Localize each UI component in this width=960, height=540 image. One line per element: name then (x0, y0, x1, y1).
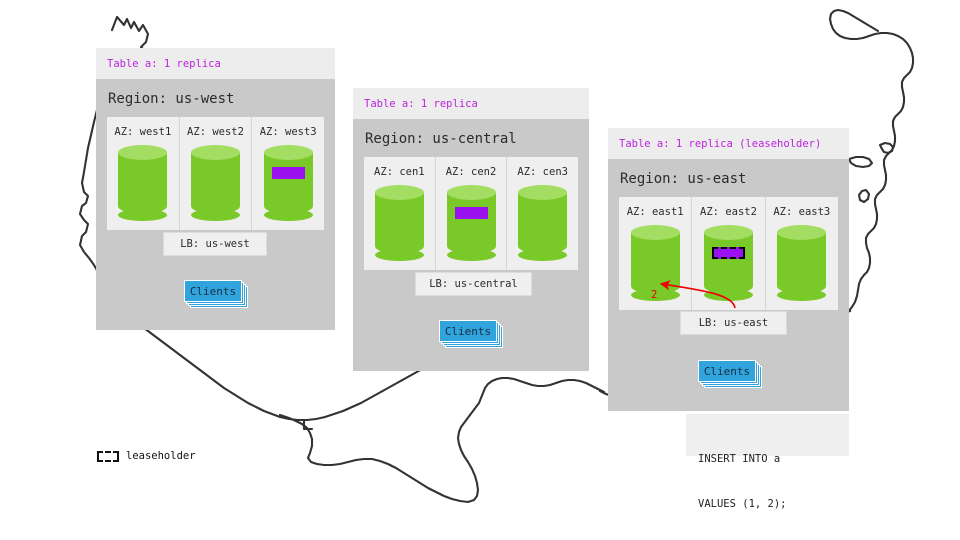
sql-line-1: INSERT INTO a (698, 452, 839, 467)
cylinder-top (518, 185, 567, 200)
clients-button[interactable]: Clients (439, 320, 497, 342)
cylinder-bottom (118, 209, 167, 221)
az-cell-cen3[interactable]: AZ: cen3 (507, 157, 578, 270)
cylinder-bottom (704, 289, 753, 301)
cylinder-top (191, 145, 240, 160)
clients-button-label: Clients (445, 325, 491, 338)
cylinder-body (704, 232, 753, 294)
az-label: AZ: east3 (773, 206, 830, 218)
cylinder-bottom (447, 249, 496, 261)
leaseholder-replica-marker (712, 247, 745, 259)
db-node-cylinder[interactable] (777, 225, 826, 301)
cylinder-body (191, 152, 240, 214)
cylinder-body (518, 192, 567, 254)
region-title-us-west: Region: us-west (96, 79, 335, 117)
az-label: AZ: cen1 (374, 166, 425, 178)
replica-marker (272, 167, 305, 179)
lb-label: LB: us-west (180, 238, 250, 250)
arrow-step-label: 2 (651, 289, 657, 301)
az-cell-cen1[interactable]: AZ: cen1 (364, 157, 436, 270)
cylinder-body (447, 192, 496, 254)
az-cell-west1[interactable]: AZ: west1 (107, 117, 180, 230)
clients-button[interactable]: Clients (698, 360, 756, 382)
db-node-cylinder[interactable] (375, 185, 424, 261)
cylinder-bottom (518, 249, 567, 261)
load-balancer-us-west[interactable]: LB: us-west (163, 232, 267, 256)
db-node-cylinder[interactable] (118, 145, 167, 221)
table-replica-label: Table a: 1 replica (364, 98, 478, 110)
cylinder-body (631, 232, 680, 294)
cylinder-top (777, 225, 826, 240)
load-balancer-us-east[interactable]: LB: us-east (680, 311, 787, 335)
az-cell-cen2[interactable]: AZ: cen2 (436, 157, 508, 270)
cylinder-top (704, 225, 753, 240)
cylinder-bottom (375, 249, 424, 261)
clients-button[interactable]: Clients (184, 280, 242, 302)
legend: leaseholder (97, 450, 196, 462)
sql-line-2: VALUES (1, 2); (698, 497, 839, 512)
dashed-rectangle-icon (97, 451, 119, 462)
db-node-cylinder[interactable] (704, 225, 753, 301)
replica-marker (455, 207, 488, 219)
panel-header-us-west: Table a: 1 replica (96, 48, 335, 79)
region-panel-us-east: Table a: 1 replica (leaseholder) Region:… (608, 128, 849, 411)
cylinder-body (777, 232, 826, 294)
cylinder-body (375, 192, 424, 254)
load-balancer-us-central[interactable]: LB: us-central (415, 272, 532, 296)
cylinder-body (264, 152, 313, 214)
az-cell-west2[interactable]: AZ: west2 (180, 117, 253, 230)
db-node-cylinder[interactable] (447, 185, 496, 261)
az-cell-west3[interactable]: AZ: west3 (252, 117, 324, 230)
clients-stack-us-central[interactable]: Clients (439, 320, 505, 349)
clients-button-label: Clients (190, 285, 236, 298)
cylinder-top (118, 145, 167, 160)
clients-button-label: Clients (704, 365, 750, 378)
az-label: AZ: cen3 (517, 166, 568, 178)
cylinder-bottom (191, 209, 240, 221)
cylinder-top (375, 185, 424, 200)
lb-label: LB: us-east (699, 317, 769, 329)
cylinder-top (447, 185, 496, 200)
cylinder-bottom (264, 209, 313, 221)
cylinder-body (118, 152, 167, 214)
table-replica-label: Table a: 1 replica (107, 58, 221, 70)
db-node-cylinder[interactable] (191, 145, 240, 221)
az-label: AZ: west1 (114, 126, 171, 138)
region-title-us-east: Region: us-east (608, 159, 849, 197)
az-cell-east3[interactable]: AZ: east3 (766, 197, 838, 310)
legend-label: leaseholder (126, 450, 196, 462)
az-strip-us-central: AZ: cen1 AZ: cen2 AZ: cen3 (364, 157, 578, 270)
diagram-canvas: Table a: 1 replica Region: us-west AZ: w… (0, 0, 960, 540)
az-cell-east2[interactable]: AZ: east2 (692, 197, 765, 310)
clients-stack-us-east[interactable]: Clients (698, 360, 764, 389)
panel-header-us-central: Table a: 1 replica (353, 88, 589, 119)
cylinder-top (631, 225, 680, 240)
clients-stack-us-west[interactable]: Clients (184, 280, 250, 309)
region-panel-us-west: Table a: 1 replica Region: us-west AZ: w… (96, 48, 335, 330)
az-label: AZ: cen2 (446, 166, 497, 178)
az-label: AZ: east1 (627, 206, 684, 218)
sql-statement-note: INSERT INTO a VALUES (1, 2); (686, 414, 849, 456)
az-label: AZ: west3 (260, 126, 317, 138)
region-title-us-central: Region: us-central (353, 119, 589, 157)
db-node-cylinder[interactable] (518, 185, 567, 261)
db-node-cylinder[interactable] (264, 145, 313, 221)
lb-label: LB: us-central (429, 278, 518, 290)
az-strip-us-west: AZ: west1 AZ: west2 AZ: west3 (107, 117, 324, 230)
az-label: AZ: west2 (187, 126, 244, 138)
az-label: AZ: east2 (700, 206, 757, 218)
panel-header-us-east: Table a: 1 replica (leaseholder) (608, 128, 849, 159)
table-replica-label: Table a: 1 replica (leaseholder) (619, 138, 821, 150)
cylinder-bottom (777, 289, 826, 301)
region-panel-us-central: Table a: 1 replica Region: us-central AZ… (353, 88, 589, 371)
cylinder-top (264, 145, 313, 160)
